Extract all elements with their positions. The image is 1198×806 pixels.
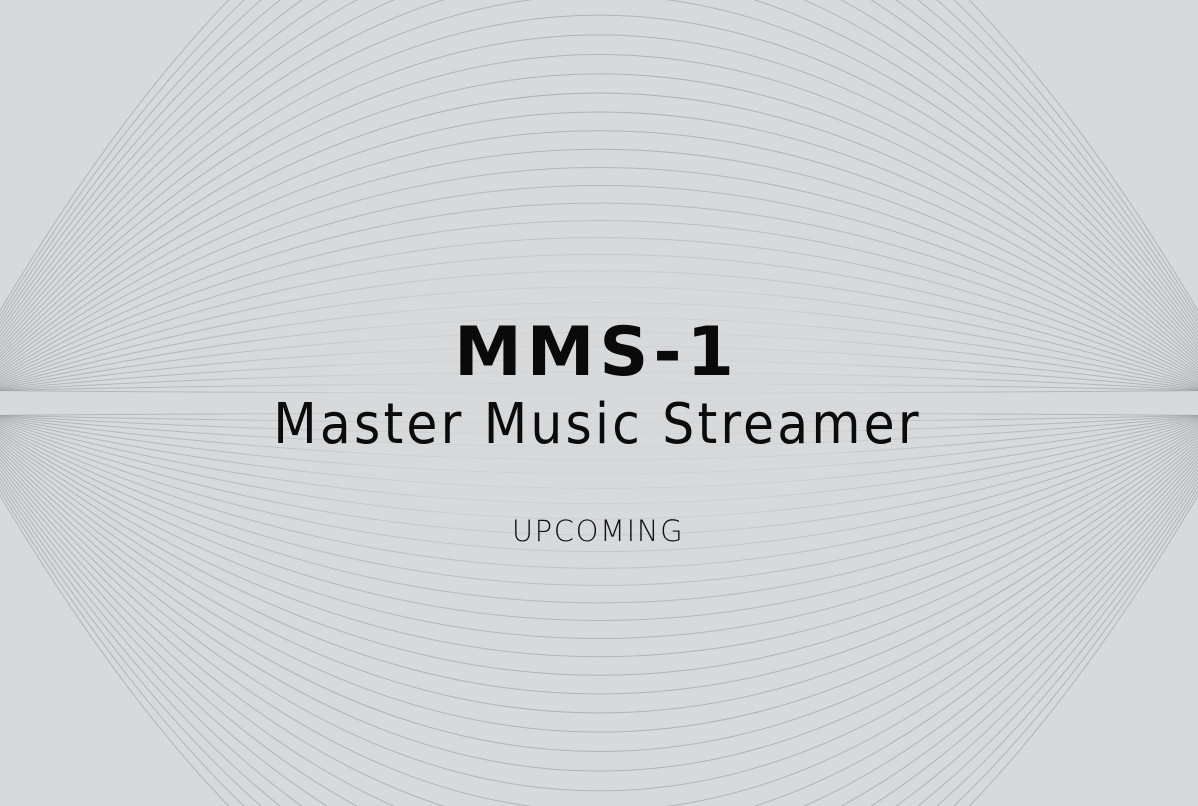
product-subtitle: Master Music Streamer — [273, 397, 924, 453]
page-title: MMS-1 — [454, 319, 744, 387]
product-teaser-banner: MMS-1 Master Music Streamer UPCOMING — [0, 0, 1198, 806]
status-badge: UPCOMING — [512, 517, 686, 546]
hero-content: MMS-1 Master Music Streamer UPCOMING — [0, 0, 1198, 806]
